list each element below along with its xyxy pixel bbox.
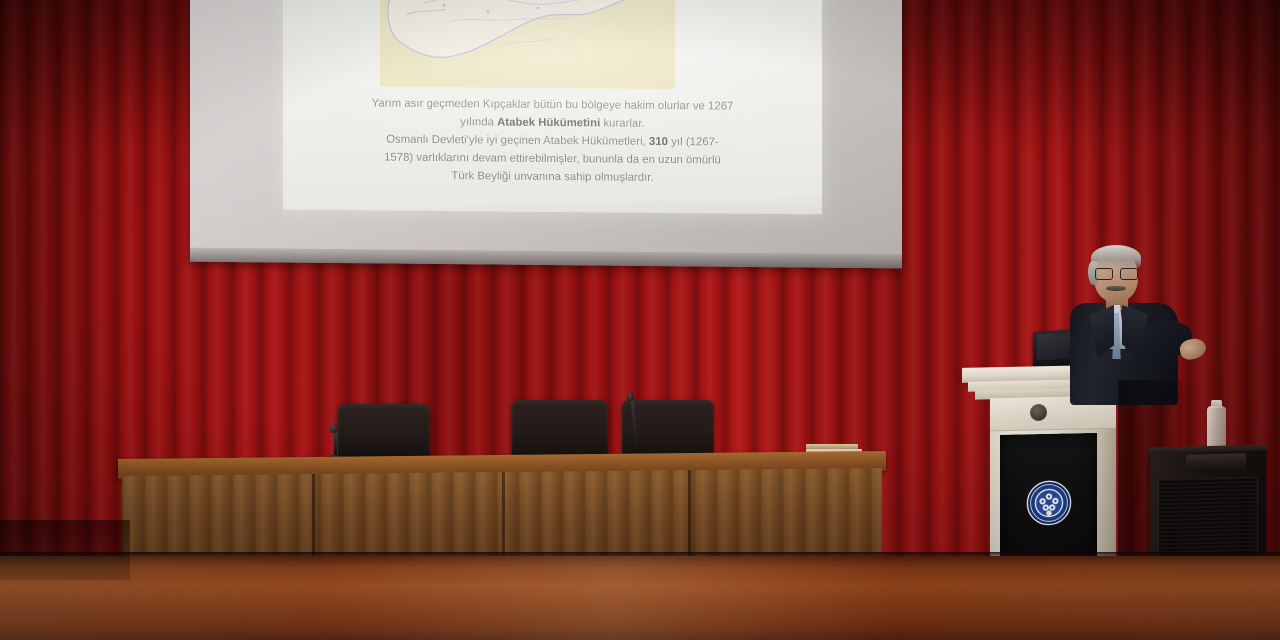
map-graphic: [380, 0, 675, 89]
presenter-figure: [1060, 243, 1210, 403]
chair-center: [512, 400, 608, 460]
microphone-head-left: [330, 424, 337, 433]
eyeglass-lens-right: [1120, 268, 1138, 280]
slide-line-3-pre: Osmanlı Devleti'yle iyi geçinen Atabek H…: [386, 134, 649, 148]
slide-line-2-post: kurarlar.: [600, 118, 644, 130]
stage-left-shadow: [0, 520, 130, 580]
university-seal-icon: [1026, 480, 1072, 527]
projected-slide: Yarım asır geçmeden Kıpçaklar bütün bu b…: [283, 0, 822, 214]
loudspeaker-handle: [1186, 453, 1246, 471]
slide-line-2-bold: Atabek Hükümetini: [497, 117, 600, 130]
slide-line-3-bold: 310: [649, 136, 668, 148]
auditorium-scene: Yarım asır geçmeden Kıpçaklar bütün bu b…: [0, 0, 1280, 640]
microphone-stand-left: [334, 430, 337, 458]
eyeglasses-icon: [1095, 268, 1138, 278]
slide-body-text: Yarım asır geçmeden Kıpçaklar bütün bu b…: [291, 94, 814, 189]
chair-left: [338, 404, 430, 460]
map-image: [380, 0, 675, 89]
microphone-head-right: [627, 392, 634, 401]
slide-line-3-post: yıl (1267-: [668, 136, 719, 148]
eyeglass-lens-left: [1095, 268, 1113, 280]
slide-line-2-pre: yılında: [460, 116, 497, 128]
slide-line-5: Türk Beyliği unvanına sahip olmuşlardır.: [291, 166, 814, 189]
stage-floor: [0, 556, 1280, 640]
presenter-mustache: [1106, 286, 1126, 291]
